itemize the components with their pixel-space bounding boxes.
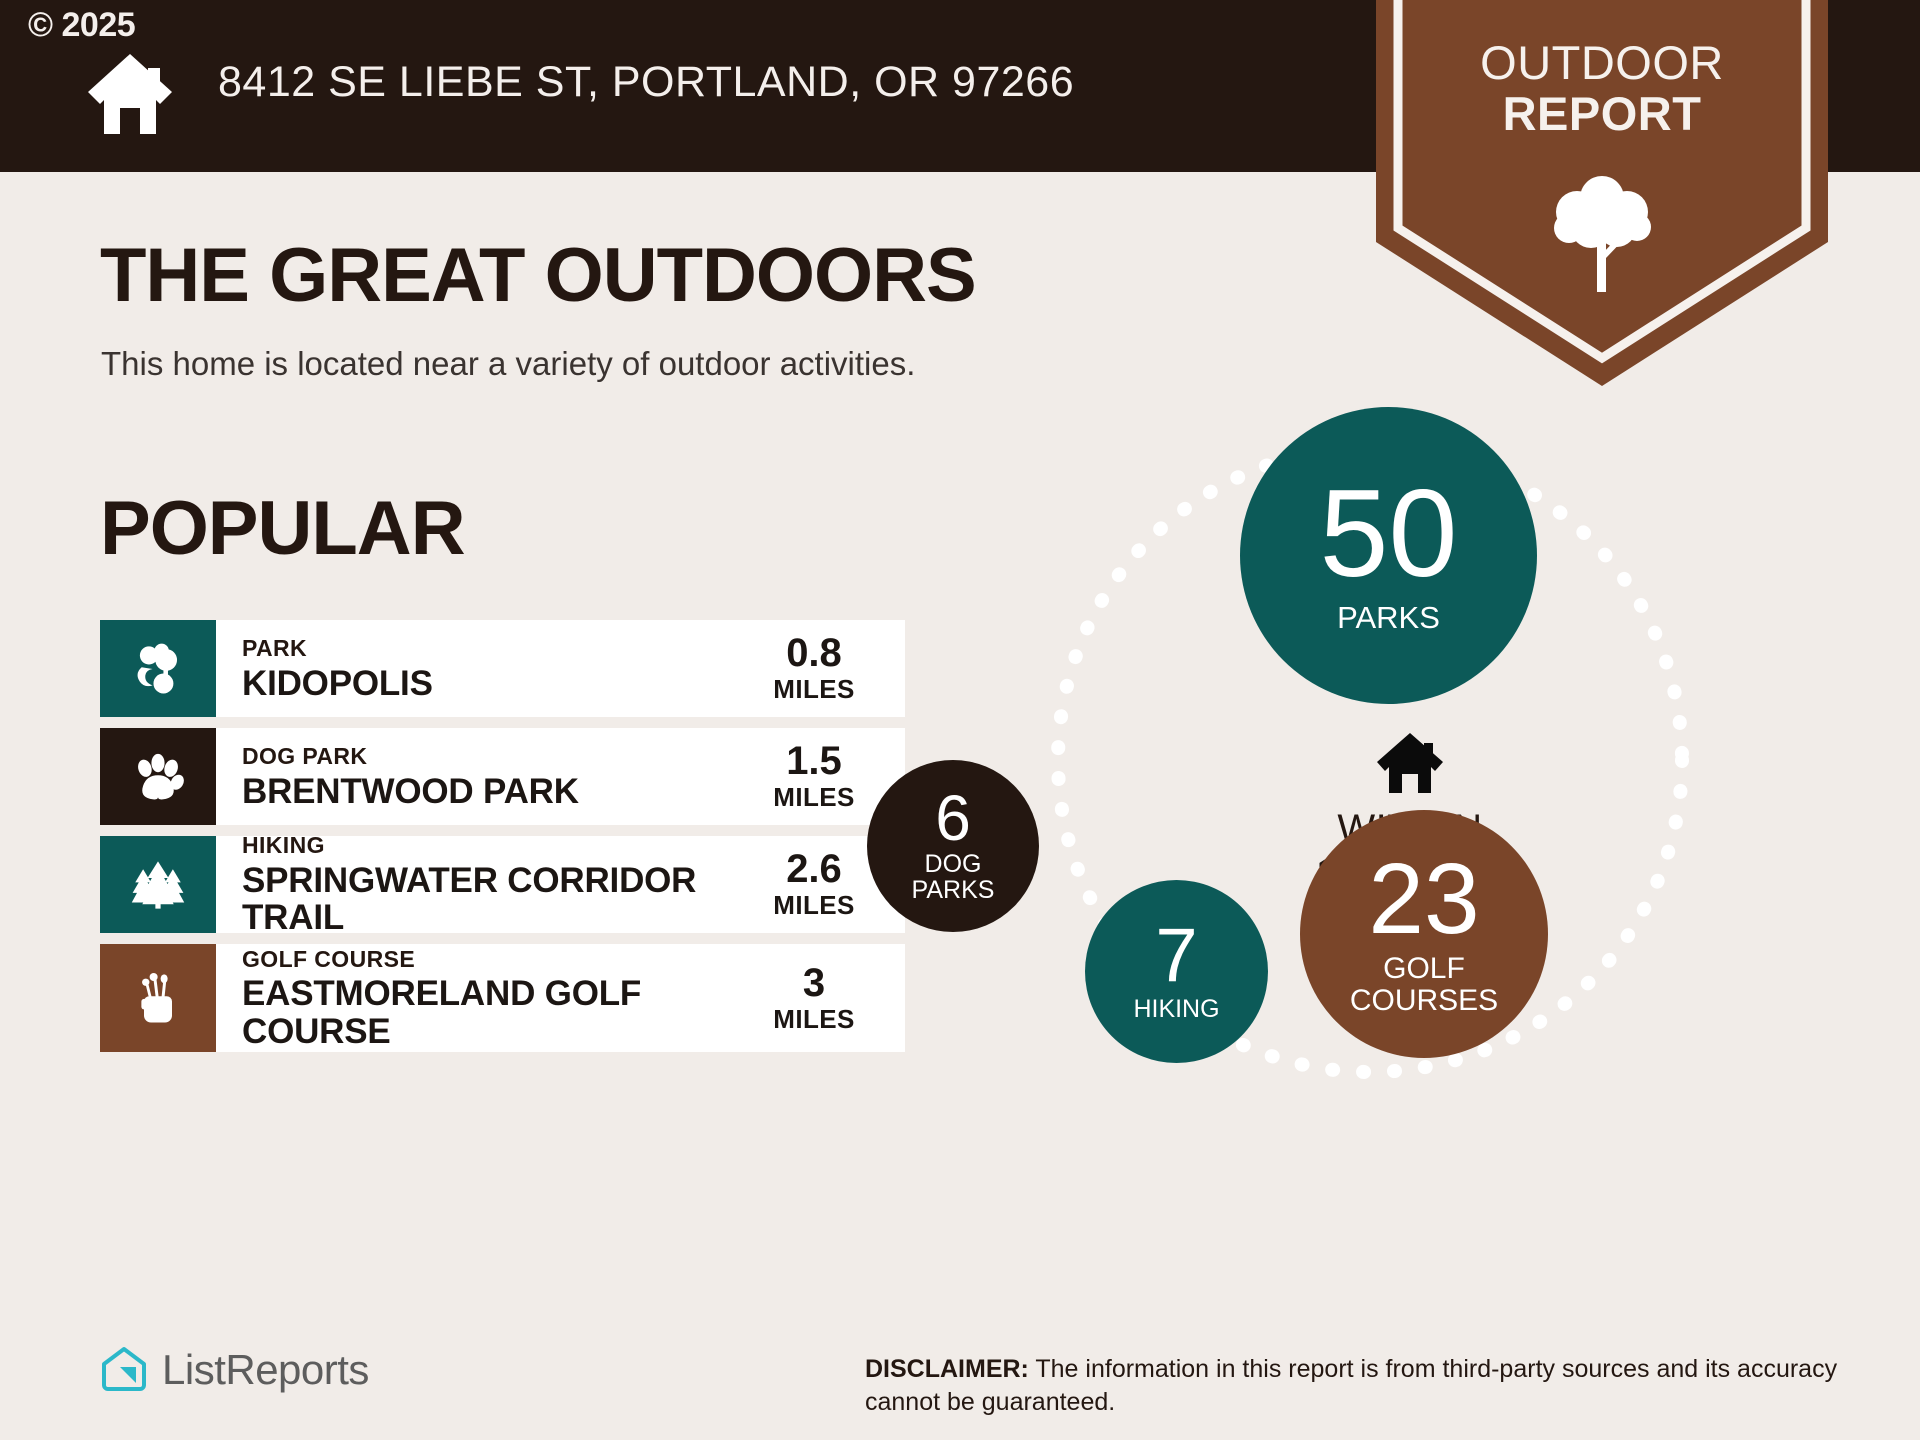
stat-circle-hiking[interactable]: 7 HIKING [1085, 880, 1268, 1063]
list-item-category: DOG PARK [242, 743, 739, 771]
list-item[interactable]: DOG PARK BRENTWOOD PARK 1.5 MILES [100, 728, 905, 825]
stat-label: HIKING [1133, 996, 1219, 1022]
popular-list: PARK KIDOPOLIS 0.8 MILES DOG PARK BRENTW… [100, 620, 905, 1063]
distance-value: 1.5 [786, 741, 842, 781]
distance-unit: MILES [773, 891, 854, 920]
stat-label: PARKS [1337, 602, 1440, 635]
list-item-name: BRENTWOOD PARK [242, 773, 739, 810]
list-item-text: GOLF COURSE EASTMORELAND GOLF COURSE [216, 944, 739, 1052]
list-item-category: HIKING [242, 832, 739, 860]
distance-value: 3 [803, 963, 825, 1003]
list-item[interactable]: PARK KIDOPOLIS 0.8 MILES [100, 620, 905, 717]
distance-unit: MILES [773, 1005, 854, 1034]
page-title: THE GREAT OUTDOORS [100, 232, 976, 319]
stat-label-line2: COURSES [1350, 985, 1498, 1017]
badge-title-line2: REPORT [1376, 89, 1828, 140]
list-item-distance: 0.8 MILES [739, 620, 905, 717]
list-item-text: PARK KIDOPOLIS [216, 620, 739, 717]
list-item-text: DOG PARK BRENTWOOD PARK [216, 728, 739, 825]
distance-value: 0.8 [786, 633, 842, 673]
stat-circle-dog-parks[interactable]: 6 DOG PARKS [867, 760, 1039, 932]
distance-value: 2.6 [786, 849, 842, 889]
stat-value: 6 [935, 788, 971, 849]
list-item-text: HIKING SPRINGWATER CORRIDOR TRAIL [216, 836, 739, 933]
popular-heading: POPULAR [100, 485, 465, 572]
stat-value: 7 [1155, 920, 1197, 992]
distance-unit: MILES [773, 675, 854, 704]
stat-label-line2: PARKS [912, 877, 995, 903]
golf-bag-icon [100, 944, 216, 1052]
list-item-name: EASTMORELAND GOLF COURSE [242, 975, 739, 1050]
disclaimer: DISCLAIMER: The information in this repo… [865, 1353, 1855, 1419]
property-address: 8412 SE LIEBE ST, PORTLAND, OR 97266 [218, 58, 1074, 107]
badge-title-line1: OUTDOOR [1376, 38, 1828, 89]
outdoor-report-badge: OUTDOOR REPORT [1376, 0, 1828, 394]
list-item-category: GOLF COURSE [242, 946, 739, 974]
stat-value: 50 [1320, 476, 1458, 594]
stat-circle-golf-courses[interactable]: 23 GOLF COURSES [1300, 810, 1548, 1058]
listreports-logo[interactable]: ListReports [100, 1345, 369, 1395]
park-trees-icon [100, 620, 216, 717]
page-subtitle: This home is located near a variety of o… [101, 345, 915, 383]
stat-circle-parks[interactable]: 50 PARKS [1240, 407, 1537, 704]
amenity-summary-diagram: WITHIN 10 MILES 50 PARKS 23 GOLF COURSES… [1000, 420, 1820, 1240]
house-icon [1374, 730, 1446, 796]
paw-print-icon [100, 728, 216, 825]
stat-label: DOG PARKS [912, 851, 995, 904]
tree-icon [1547, 170, 1657, 296]
pine-trees-icon [100, 836, 216, 933]
disclaimer-label: DISCLAIMER: [865, 1355, 1029, 1383]
badge-title: OUTDOOR REPORT [1376, 38, 1828, 140]
stat-label-line1: GOLF [1350, 953, 1498, 985]
list-item[interactable]: HIKING SPRINGWATER CORRIDOR TRAIL 2.6 MI… [100, 836, 905, 933]
distance-unit: MILES [773, 783, 854, 812]
listreports-logo-text: ListReports [162, 1346, 369, 1394]
stat-label: GOLF COURSES [1350, 953, 1498, 1016]
stat-value: 23 [1368, 852, 1479, 947]
copyright-label: © 2025 [28, 6, 135, 45]
list-item-name: SPRINGWATER CORRIDOR TRAIL [242, 862, 739, 937]
house-icon [82, 48, 178, 138]
list-item-name: KIDOPOLIS [242, 665, 739, 702]
listreports-house-icon [100, 1345, 148, 1395]
stat-label-line1: DOG [912, 851, 995, 877]
list-item-distance: 3 MILES [739, 944, 905, 1052]
list-item[interactable]: GOLF COURSE EASTMORELAND GOLF COURSE 3 M… [100, 944, 905, 1052]
list-item-category: PARK [242, 635, 739, 663]
